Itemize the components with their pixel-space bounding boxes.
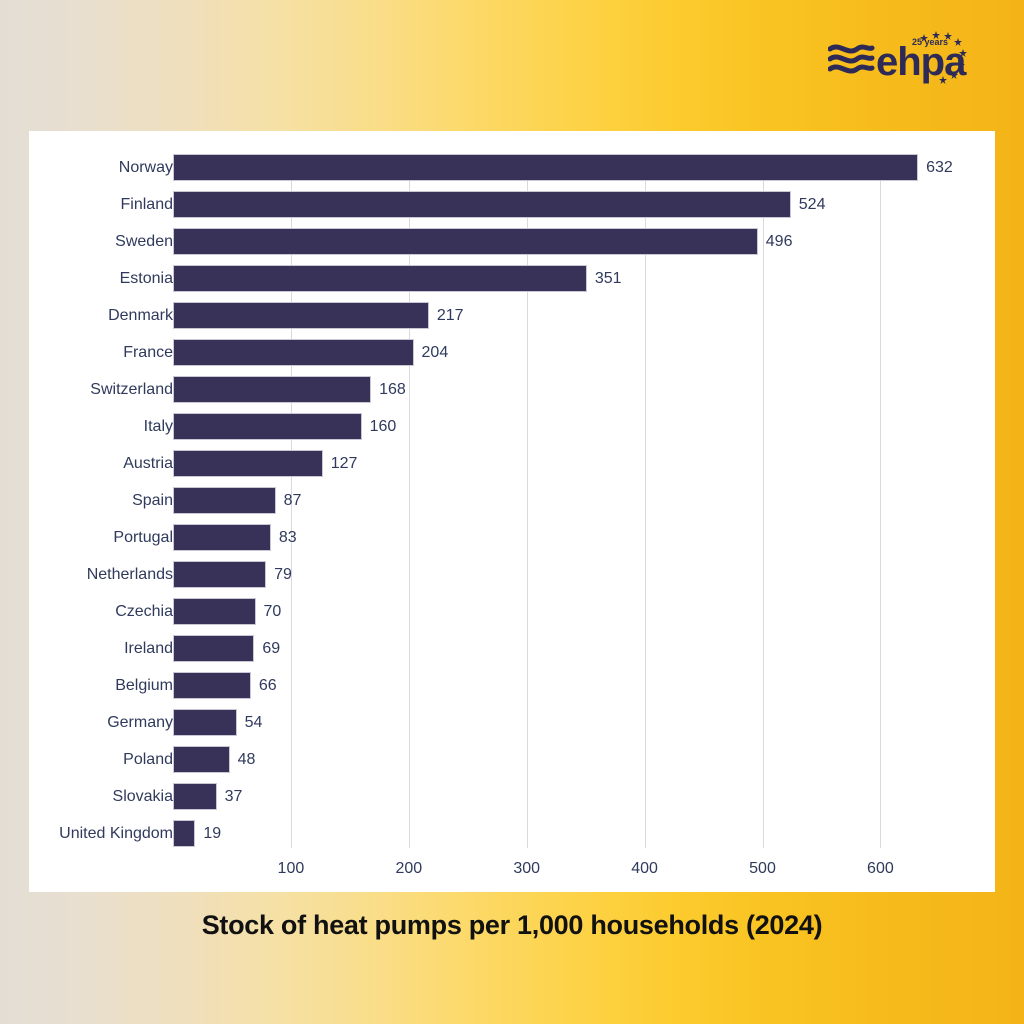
bar-chart: Norway632Finland524Sweden496Estonia351De…: [29, 131, 995, 892]
bar[interactable]: [173, 265, 587, 292]
bar[interactable]: [173, 598, 256, 625]
category-label: Netherlands: [87, 556, 173, 593]
category-label: France: [123, 334, 173, 371]
category-label: Belgium: [115, 667, 173, 704]
bar[interactable]: [173, 302, 429, 329]
bar-value-label: 351: [595, 260, 622, 297]
bar-value-label: 496: [766, 223, 793, 260]
category-label: United Kingdom: [59, 815, 173, 852]
bar-value-label: 70: [264, 593, 282, 630]
category-label: Italy: [144, 408, 173, 445]
x-tick-label: 600: [867, 860, 894, 878]
bar-value-label: 524: [799, 186, 826, 223]
x-axis: 100200300400500600: [29, 848, 995, 892]
bar[interactable]: [173, 228, 758, 255]
bar[interactable]: [173, 783, 217, 810]
bar[interactable]: [173, 450, 323, 477]
bar-row: Switzerland168: [29, 371, 995, 408]
category-label: Spain: [132, 482, 173, 519]
bar-row: Finland524: [29, 186, 995, 223]
bar[interactable]: [173, 191, 791, 218]
bar-row: United Kingdom19: [29, 815, 995, 852]
bar-value-label: 66: [259, 667, 277, 704]
category-label: Austria: [123, 445, 173, 482]
bar-value-label: 204: [422, 334, 449, 371]
ehpa-waves-icon: [830, 47, 872, 71]
category-label: Czechia: [115, 593, 173, 630]
bar-value-label: 37: [225, 778, 243, 815]
chart-rows: Norway632Finland524Sweden496Estonia351De…: [29, 149, 995, 852]
bar-value-label: 632: [926, 149, 953, 186]
bar-row: Denmark217: [29, 297, 995, 334]
bar[interactable]: [173, 672, 251, 699]
svg-text:25 years: 25 years: [912, 37, 948, 47]
bar[interactable]: [173, 561, 266, 588]
bar-value-label: 69: [262, 630, 280, 667]
category-label: Estonia: [120, 260, 173, 297]
bar-row: Austria127: [29, 445, 995, 482]
bar-value-label: 87: [284, 482, 302, 519]
bar-row: Portugal83: [29, 519, 995, 556]
category-label: Ireland: [124, 630, 173, 667]
bar[interactable]: [173, 524, 271, 551]
chart-caption: Stock of heat pumps per 1,000 households…: [0, 910, 1024, 941]
bar-value-label: 54: [245, 704, 263, 741]
bar-row: Estonia351: [29, 260, 995, 297]
bar-value-label: 127: [331, 445, 358, 482]
category-label: Germany: [107, 704, 173, 741]
bar-row: Germany54: [29, 704, 995, 741]
chart-card: Norway632Finland524Sweden496Estonia351De…: [29, 131, 995, 892]
poster: ehpa 25 years Norway632Finland524Sweden4…: [0, 0, 1024, 1024]
bar[interactable]: [173, 487, 276, 514]
bar-row: Spain87: [29, 482, 995, 519]
bar[interactable]: [173, 635, 254, 662]
category-label: Poland: [123, 741, 173, 778]
category-label: Norway: [119, 149, 173, 186]
bar[interactable]: [173, 376, 371, 403]
bar-row: Italy160: [29, 408, 995, 445]
bar-value-label: 48: [238, 741, 256, 778]
bar-value-label: 19: [203, 815, 221, 852]
category-label: Denmark: [108, 297, 173, 334]
x-tick-label: 300: [513, 860, 540, 878]
bar[interactable]: [173, 154, 918, 181]
bar[interactable]: [173, 820, 195, 847]
category-label: Switzerland: [90, 371, 173, 408]
x-tick-label: 400: [631, 860, 658, 878]
x-tick-label: 100: [278, 860, 305, 878]
bar[interactable]: [173, 339, 414, 366]
x-tick-label: 500: [749, 860, 776, 878]
bar-row: Ireland69: [29, 630, 995, 667]
bar-row: Slovakia37: [29, 778, 995, 815]
x-tick-label: 200: [395, 860, 422, 878]
category-label: Finland: [121, 186, 173, 223]
bar[interactable]: [173, 709, 237, 736]
bar-value-label: 83: [279, 519, 297, 556]
bar-value-label: 217: [437, 297, 464, 334]
bar-row: France204: [29, 334, 995, 371]
category-label: Sweden: [115, 223, 173, 260]
category-label: Portugal: [113, 519, 173, 556]
bar-row: Czechia70: [29, 593, 995, 630]
bar-value-label: 168: [379, 371, 406, 408]
category-label: Slovakia: [113, 778, 173, 815]
bar-row: Sweden496: [29, 223, 995, 260]
bar-value-label: 79: [274, 556, 292, 593]
bar-row: Poland48: [29, 741, 995, 778]
bar-row: Norway632: [29, 149, 995, 186]
bar-value-label: 160: [370, 408, 397, 445]
bar-row: Netherlands79: [29, 556, 995, 593]
ehpa-logo: ehpa 25 years: [828, 28, 978, 86]
bar[interactable]: [173, 746, 230, 773]
bar[interactable]: [173, 413, 362, 440]
bar-row: Belgium66: [29, 667, 995, 704]
